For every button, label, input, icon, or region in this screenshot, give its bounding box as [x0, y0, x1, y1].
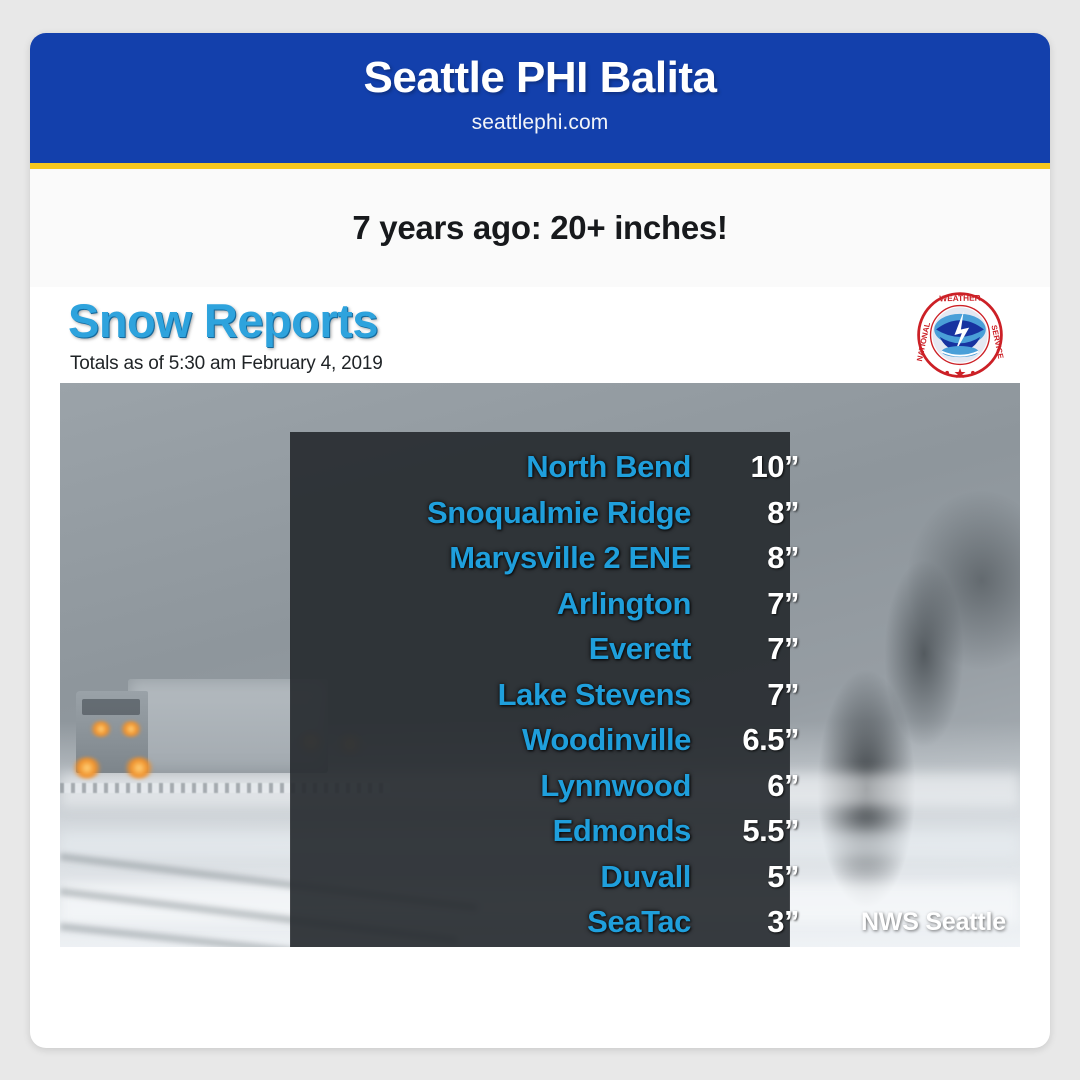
snow-amount: 7” [707, 631, 803, 667]
truck-windshield [82, 699, 140, 715]
snow-totals-list: North Bend 10” Snoqualmie Ridge 8” Marys… [291, 433, 789, 947]
snow-photo-background: North Bend 10” Snoqualmie Ridge 8” Marys… [60, 383, 1020, 947]
table-row: Lynnwood 6” [291, 768, 789, 814]
snow-amount: 5” [707, 859, 803, 895]
location-label: Edmonds [291, 813, 707, 849]
location-label: Woodinville [291, 722, 707, 758]
snow-amount: 6” [707, 768, 803, 804]
snow-amount: 3” [707, 904, 803, 940]
table-row: SeaTac 3” [291, 904, 789, 947]
snow-amount: 8” [707, 495, 803, 531]
headlight-icon [124, 757, 154, 779]
headlight-icon [90, 721, 112, 737]
location-label: SeaTac [291, 904, 707, 940]
snow-amount: 10” [707, 449, 803, 485]
semi-truck [68, 673, 328, 793]
snow-totals-panel: North Bend 10” Snoqualmie Ridge 8” Marys… [291, 433, 789, 947]
snow-amount: 5.5” [707, 813, 803, 849]
location-label: Marysville 2 ENE [291, 540, 707, 576]
post-card: Seattle PHI Balita seattlephi.com 7 year… [30, 33, 1050, 1048]
snow-amount: 7” [707, 586, 803, 622]
card-bottom-pad [30, 947, 1050, 948]
snow-report-graphic: Snow Reports Totals as of 5:30 am Februa… [60, 287, 1020, 947]
table-row: Everett 7” [291, 631, 789, 677]
location-label: Arlington [291, 586, 707, 622]
location-label: Duvall [291, 859, 707, 895]
headlight-icon [72, 757, 102, 779]
site-url[interactable]: seattlephi.com [30, 111, 1050, 135]
location-label: North Bend [291, 449, 707, 485]
table-row: North Bend 10” [291, 449, 789, 495]
location-label: Everett [291, 631, 707, 667]
table-row: Woodinville 6.5” [291, 722, 789, 768]
location-label: Snoqualmie Ridge [291, 495, 707, 531]
table-row: Marysville 2 ENE 8” [291, 540, 789, 586]
location-label: Lake Stevens [291, 677, 707, 713]
caption-bar: 7 years ago: 20+ inches! [30, 169, 1050, 287]
header-banner: Seattle PHI Balita seattlephi.com [30, 33, 1050, 169]
table-row: Lake Stevens 7” [291, 677, 789, 723]
headlight-icon [120, 721, 142, 737]
table-row: Snoqualmie Ridge 8” [291, 495, 789, 541]
snow-amount: 7” [707, 677, 803, 713]
graphic-title: Snow Reports [68, 293, 378, 348]
graphic-title-strip: Snow Reports Totals as of 5:30 am Februa… [60, 287, 1020, 383]
site-title: Seattle PHI Balita [30, 33, 1050, 101]
table-row: Arlington 7” [291, 586, 789, 632]
location-label: Lynnwood [291, 768, 707, 804]
svg-text:WEATHER: WEATHER [939, 294, 980, 304]
snow-amount: 8” [707, 540, 803, 576]
table-row: Duvall 5” [291, 859, 789, 905]
graphic-subtitle: Totals as of 5:30 am February 4, 2019 [70, 353, 383, 375]
national-weather-service-logo: WEATHER NATIONAL SERVICE [914, 289, 1006, 381]
post-caption: 7 years ago: 20+ inches! [352, 209, 727, 247]
table-row: Edmonds 5.5” [291, 813, 789, 859]
snow-amount: 6.5” [707, 722, 803, 758]
nws-seattle-watermark: NWS Seattle [861, 908, 1006, 937]
